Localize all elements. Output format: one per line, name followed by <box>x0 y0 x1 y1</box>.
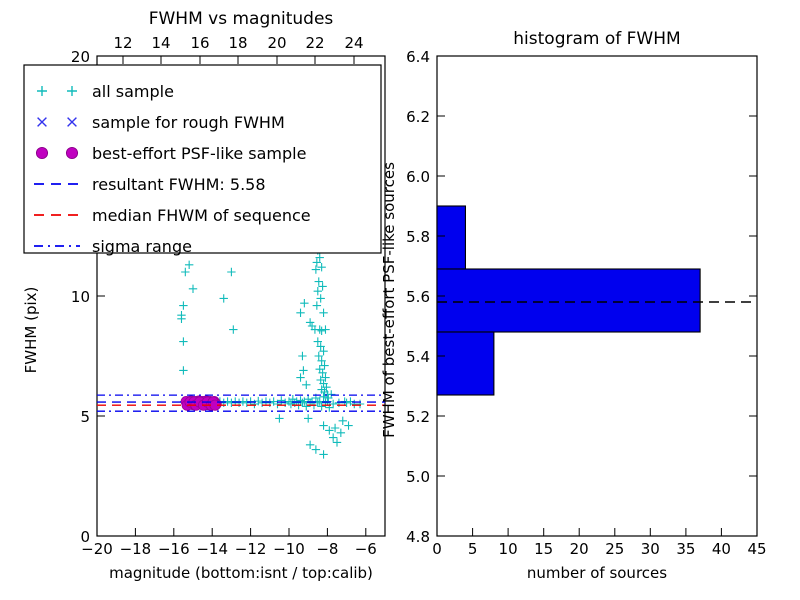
histogram-y-ticklabel: 5.8 <box>406 228 430 246</box>
scatter-title: FWHM vs magnitudes <box>149 9 334 29</box>
histogram-x-ticklabel: 5 <box>468 540 478 558</box>
scatter-y-ticklabel: 0 <box>80 528 90 546</box>
legend-label: sample for rough FWHM <box>92 113 285 132</box>
scatter-x-ticklabel: −14 <box>196 540 228 558</box>
histogram-y-ticklabel: 6.0 <box>406 168 430 186</box>
histogram-y-ticklabel: 5.2 <box>406 408 430 426</box>
scatter-top-ticklabel: 20 <box>267 34 286 52</box>
histogram-xlabel: number of sources <box>527 564 667 582</box>
figure-canvas: FWHM vs magnitudes 12 14 16 18 20 22 <box>0 0 800 600</box>
scatter-y-ticklabel: 10 <box>71 288 90 306</box>
matplotlib-figure: FWHM vs magnitudes 12 14 16 18 20 22 <box>0 0 800 600</box>
histogram-y-ticklabel: 5.6 <box>406 288 430 306</box>
histogram-x-ticklabel: 0 <box>432 540 442 558</box>
scatter-x-ticklabel: −18 <box>120 540 152 558</box>
histogram-bar <box>437 206 465 269</box>
filled-circle-icon <box>66 147 77 158</box>
scatter-top-ticklabel: 24 <box>344 34 363 52</box>
scatter-x-ticklabel: −12 <box>235 540 267 558</box>
legend-label: sigma range <box>92 237 192 256</box>
histogram-bar <box>437 332 494 395</box>
filled-circle-icon <box>36 147 47 158</box>
scatter-x-ticklabel: −8 <box>316 540 338 558</box>
histogram-x-ticklabel: 45 <box>747 540 766 558</box>
scatter-x-ticklabel: −6 <box>355 540 377 558</box>
scatter-top-ticklabel: 18 <box>228 34 247 52</box>
legend-label: all sample <box>92 82 174 101</box>
histogram-x-ticklabel: 40 <box>712 540 731 558</box>
scatter-y-ticklabel: 20 <box>71 48 90 66</box>
histogram-y-ticklabel: 5.0 <box>406 468 430 486</box>
scatter-xlabel: magnitude (bottom:isnt / top:calib) <box>109 564 373 582</box>
legend-label: median FHWM of sequence <box>92 206 311 225</box>
legend: all samplesample for rough FWHMbest-effo… <box>24 65 381 256</box>
scatter-x-ticklabel: −10 <box>273 540 305 558</box>
series-best-effort-psf-like-sample <box>181 396 221 410</box>
histogram-x-ticklabel: 25 <box>605 540 624 558</box>
histogram-y-ticklabel: 6.4 <box>406 48 430 66</box>
histogram-bar <box>437 269 700 332</box>
scatter-top-ticklabel: 16 <box>190 34 209 52</box>
histogram-x-ticklabel: 15 <box>534 540 553 558</box>
scatter-y-ticklabel: 5 <box>80 408 90 426</box>
histogram-x-ticklabel: 30 <box>641 540 660 558</box>
scatter-top-ticklabel: 22 <box>305 34 324 52</box>
histogram-title: histogram of FWHM <box>513 29 680 49</box>
histogram-y-ticklabel: 4.8 <box>406 528 430 546</box>
scatter-x-ticklabel: −16 <box>158 540 190 558</box>
histogram-y-ticklabel: 5.4 <box>406 348 430 366</box>
histogram-x-ticklabel: 35 <box>676 540 695 558</box>
histogram-x-ticklabel: 10 <box>499 540 518 558</box>
histogram-y-ticklabel: 6.2 <box>406 108 430 126</box>
histogram-x-ticklabel: 20 <box>570 540 589 558</box>
legend-label: resultant FWHM: 5.58 <box>92 175 266 194</box>
scatter-top-ticklabel: 14 <box>151 34 170 52</box>
legend-label: best-effort PSF-like sample <box>92 144 306 163</box>
scatter-ylabel: FWHM (pix) <box>22 287 40 374</box>
scatter-top-ticklabel: 12 <box>113 34 132 52</box>
histogram-ylabel: FWHM of best-effort PSF-like sources <box>380 162 398 438</box>
histogram-axes: histogram of FWHM 0 <box>380 29 767 582</box>
